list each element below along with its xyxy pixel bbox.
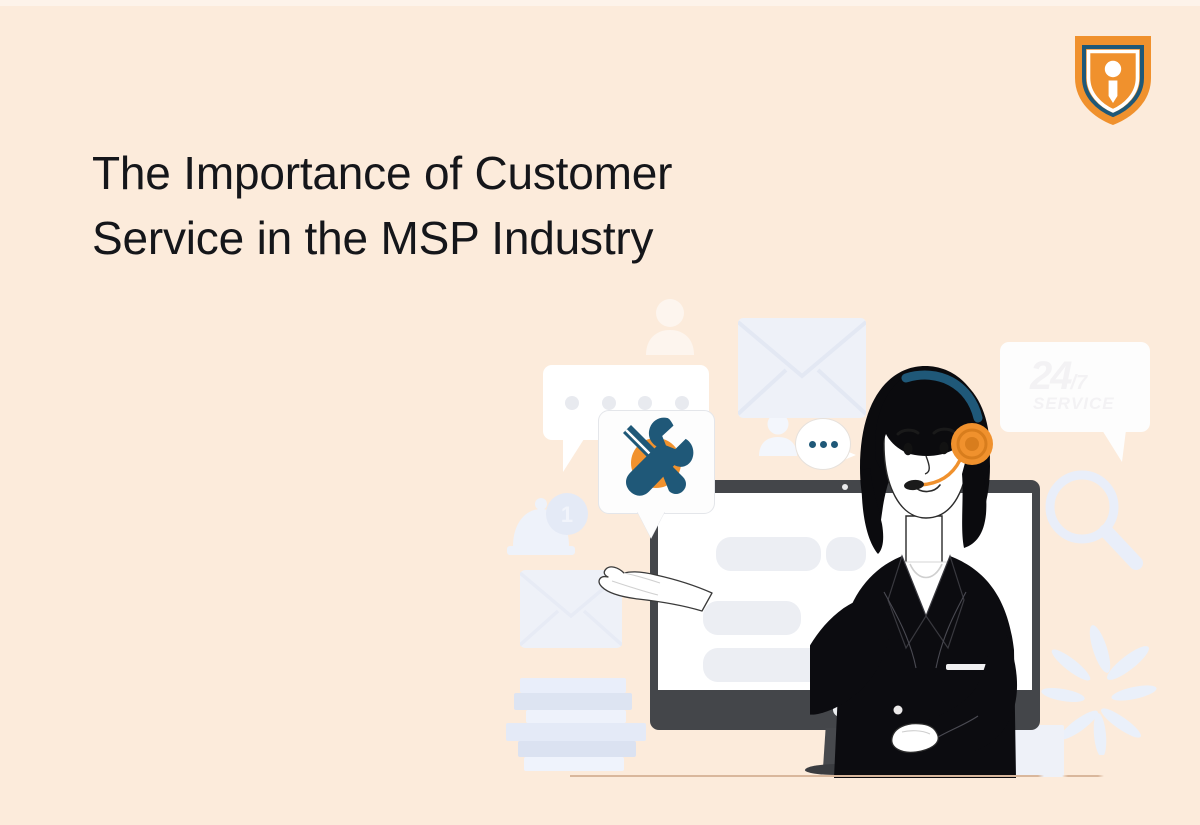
- chat-dot: [602, 396, 616, 410]
- chat-dot: [565, 396, 579, 410]
- typing-dot: [809, 441, 816, 448]
- page-title-line-2: Service in the MSP Industry: [92, 206, 852, 271]
- typing-indicator-bubble: [795, 418, 851, 470]
- bell-badge-count: 1: [561, 502, 573, 527]
- typing-dot: [831, 441, 838, 448]
- tools-support-icon-card[interactable]: [598, 410, 715, 514]
- badge-slash-seven: /7: [1071, 372, 1088, 394]
- chat-bubble-dots: [565, 396, 689, 410]
- open-palm-hand: [598, 545, 718, 615]
- banner-canvas: The Importance of Customer Service in th…: [0, 0, 1200, 825]
- support-agent-character: [810, 348, 1040, 778]
- top-strip: [0, 0, 1200, 6]
- typing-dot: [820, 441, 827, 448]
- page-title: The Importance of Customer Service in th…: [92, 141, 852, 271]
- user-silhouette-icon-top: [640, 295, 700, 357]
- customer-service-illustration: 1: [490, 270, 1190, 810]
- chat-dot: [638, 396, 652, 410]
- ground-line: [570, 775, 1170, 777]
- magnifier-icon: [1040, 465, 1150, 580]
- shield-i-logo[interactable]: [1072, 30, 1154, 127]
- page-title-line-1: The Importance of Customer: [92, 141, 852, 206]
- tools-card-pointer: [637, 511, 665, 538]
- notification-bell-icon: 1: [505, 492, 591, 568]
- chat-bubble-tail: [563, 439, 584, 472]
- chat-dot: [675, 396, 689, 410]
- badge-label: SERVICE: [1033, 394, 1115, 414]
- screen-placeholder-bar: [716, 537, 821, 571]
- badge-bubble-tail: [1102, 430, 1126, 462]
